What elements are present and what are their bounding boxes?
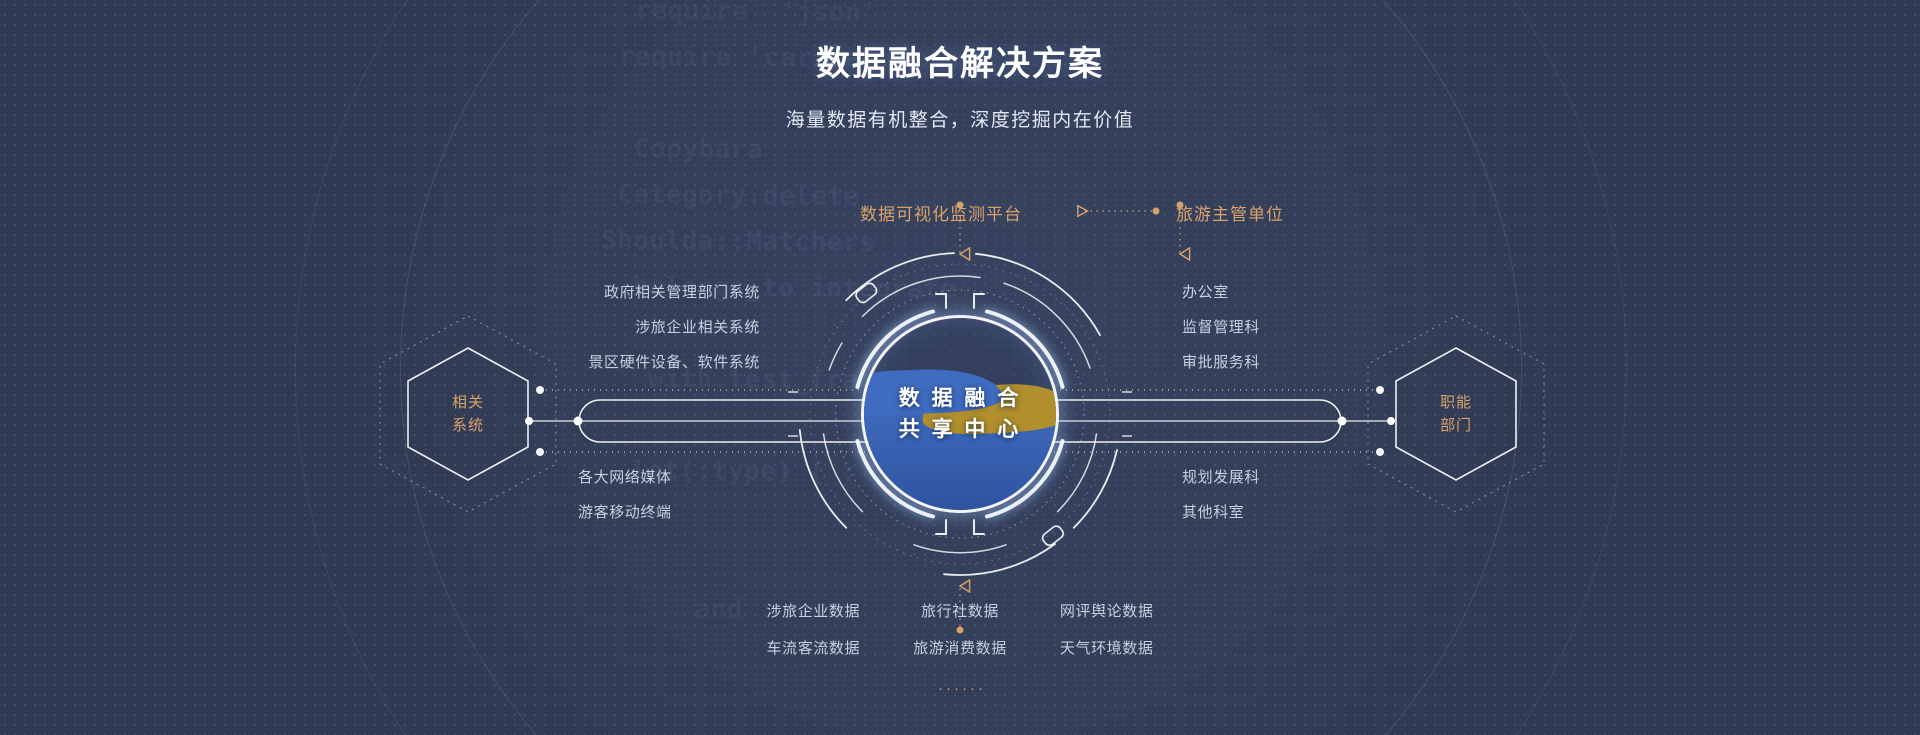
node-related-systems[interactable]: 相关 系统 <box>408 348 528 480</box>
list-item: 各大网络媒体 <box>578 460 672 495</box>
list-item: 涉旅企业相关系统 <box>300 310 760 345</box>
list-item: 天气环境数据 <box>1033 637 1180 658</box>
bottom-row-2: 车流客流数据 旅游消费数据 天气环境数据 <box>740 637 1180 658</box>
list-item: 涉旅企业数据 <box>740 600 887 621</box>
header-block: 数据融合解决方案 海量数据有机整合，深度挖掘内在价值 <box>0 36 1920 132</box>
group-right-upper: 办公室 监督管理科 审批服务科 <box>1182 275 1260 380</box>
list-item: 监督管理科 <box>1182 310 1260 345</box>
list-item: 景区硬件设备、软件系统 <box>300 345 760 380</box>
list-item: 游客移动终端 <box>578 495 672 530</box>
list-item: 政府相关管理部门系统 <box>300 275 760 310</box>
list-item: 网评舆论数据 <box>1033 600 1180 621</box>
infographic-canvas: require 'json' require 'carrier Copybara… <box>0 0 1920 735</box>
core-label-line1: 数 据 融 合 <box>864 383 1056 414</box>
group-bottom-data: 涉旅企业数据 旅行社数据 网评舆论数据 车流客流数据 旅游消费数据 天气环境数据 <box>740 600 1180 674</box>
list-item: 旅行社数据 <box>887 600 1034 621</box>
core-label: 数 据 融 合 共 享 中 心 <box>864 383 1056 445</box>
list-item: 规划发展科 <box>1182 460 1260 495</box>
node-related-systems-label: 相关 系统 <box>408 391 528 437</box>
bottom-ellipsis: ······ <box>938 680 986 697</box>
node-related-systems-line2: 系统 <box>408 414 528 437</box>
node-functional-departments-label: 职能 部门 <box>1396 391 1516 437</box>
list-item: 车流客流数据 <box>740 637 887 658</box>
bottom-row-1: 涉旅企业数据 旅行社数据 网评舆论数据 <box>740 600 1180 621</box>
core-sphere: 数 据 融 合 共 享 中 心 <box>864 318 1056 510</box>
group-left-lower: 各大网络媒体 游客移动终端 <box>578 460 672 530</box>
core-label-line2: 共 享 中 心 <box>864 414 1056 445</box>
page-subtitle: 海量数据有机整合，深度挖掘内在价值 <box>0 105 1920 132</box>
group-left-upper: 政府相关管理部门系统 涉旅企业相关系统 景区硬件设备、软件系统 <box>300 275 760 380</box>
node-functional-departments-line1: 职能 <box>1396 391 1516 414</box>
group-right-lower: 规划发展科 其他科室 <box>1182 460 1260 530</box>
page-title: 数据融合解决方案 <box>0 36 1920 85</box>
node-functional-departments-line2: 部门 <box>1396 414 1516 437</box>
node-related-systems-line1: 相关 <box>408 391 528 414</box>
list-item: 办公室 <box>1182 275 1260 310</box>
node-functional-departments[interactable]: 职能 部门 <box>1396 348 1516 480</box>
list-item: 旅游消费数据 <box>887 637 1034 658</box>
list-item: 审批服务科 <box>1182 345 1260 380</box>
label-tourism-authority[interactable]: 旅游主管单位 <box>1176 200 1284 225</box>
list-item: 其他科室 <box>1182 495 1260 530</box>
label-visualization-platform[interactable]: 数据可视化监测平台 <box>860 200 1022 225</box>
